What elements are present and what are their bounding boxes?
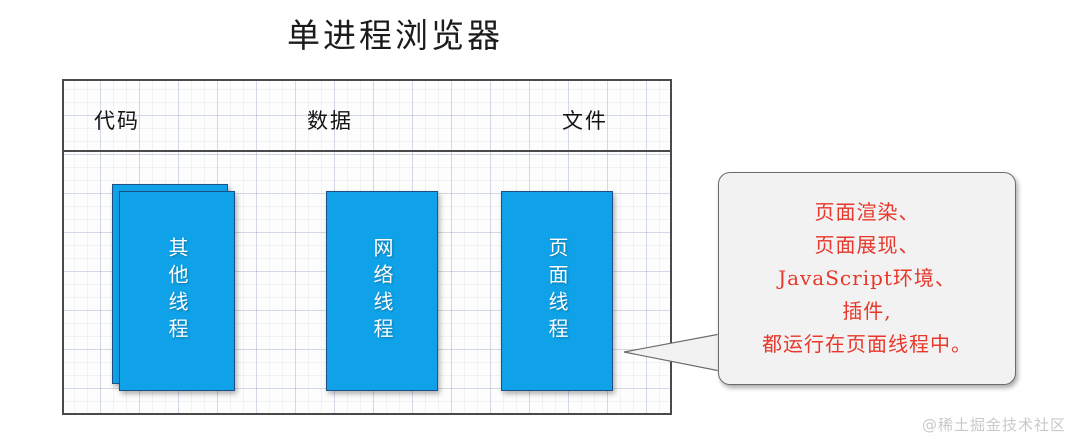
thread-box-page: 页面线程 <box>501 191 613 391</box>
watermark: @稀土掘金技术社区 <box>922 415 1066 435</box>
resource-label-file: 文件 <box>562 108 608 134</box>
page-title: 单进程浏览器 <box>0 16 790 56</box>
resource-header-row: 代码 数据 文件 <box>64 81 670 152</box>
process-container: 代码 数据 文件 其他线程 网络线程 页面线程 <box>62 79 672 415</box>
diagram-canvas: 单进程浏览器 代码 数据 文件 其他线程 网络线程 页面线程 页面渲染、 页面展… <box>0 0 1080 444</box>
thread-label-other: 其他线程 <box>162 237 192 345</box>
resource-label-data: 数据 <box>307 108 353 134</box>
callout-line: JavaScript环境、 <box>778 262 956 295</box>
thread-label-network: 网络线程 <box>367 237 397 345</box>
callout-line: 插件, <box>842 295 891 328</box>
thread-box-network: 网络线程 <box>326 191 438 391</box>
thread-label-page: 页面线程 <box>542 237 572 345</box>
resource-label-code: 代码 <box>94 108 140 134</box>
callout-line: 都运行在页面线程中。 <box>762 328 972 361</box>
callout-line: 页面渲染、 <box>815 196 920 229</box>
thread-box-other: 其他线程 <box>119 191 235 391</box>
callout-bubble: 页面渲染、 页面展现、 JavaScript环境、 插件, 都运行在页面线程中。 <box>718 172 1016 385</box>
callout-line: 页面展现、 <box>815 229 920 262</box>
